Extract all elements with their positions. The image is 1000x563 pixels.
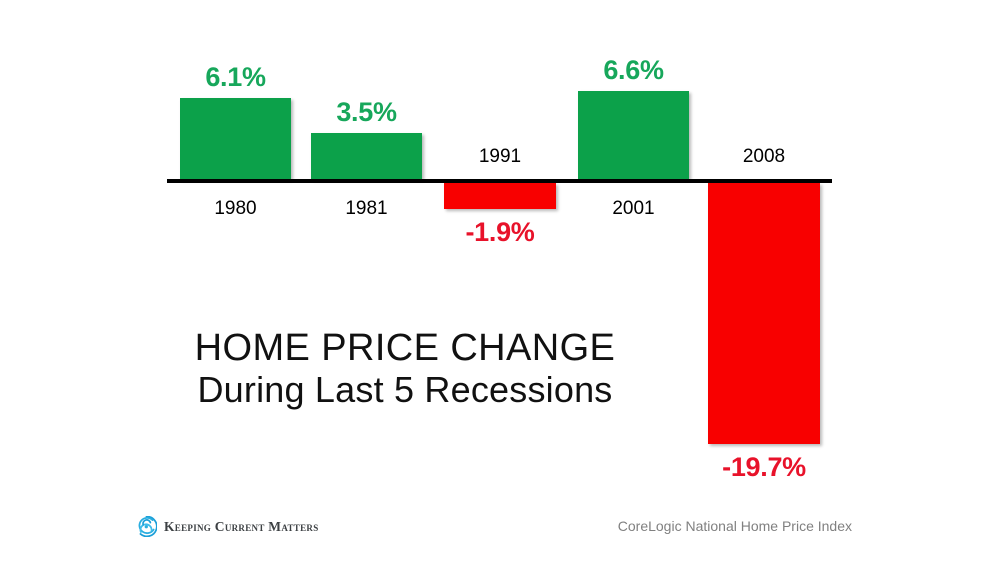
value-label-1981: 3.5% [286, 97, 447, 128]
bar-1981 [311, 133, 422, 179]
source-attribution: CoreLogic National Home Price Index [618, 518, 852, 534]
value-label-1991: -1.9% [419, 217, 581, 248]
category-label-2008: 2008 [683, 146, 845, 168]
brand-name-label: Keeping Current Matters [164, 519, 319, 535]
bar-2001 [578, 91, 689, 179]
category-label-1991: 1991 [419, 146, 581, 168]
value-label-2008: -19.7% [683, 452, 845, 483]
page-title: HOME PRICE CHANGE [150, 328, 660, 368]
bar-2008 [708, 183, 820, 444]
bar-1991 [444, 183, 556, 209]
value-label-2001: 6.6% [553, 55, 714, 86]
bar-1980 [180, 98, 291, 179]
slide-canvas: 6.1%19803.5%1981-1.9%19916.6%2001-19.7%2… [0, 0, 1000, 563]
footer: Keeping Current Matters CoreLogic Nation… [0, 516, 1000, 556]
bar-chart: 6.1%19803.5%1981-1.9%19916.6%2001-19.7%2… [0, 0, 1000, 500]
chart-title-block: HOME PRICE CHANGE During Last 5 Recessio… [150, 328, 660, 410]
brand-logo: Keeping Current Matters [136, 516, 319, 537]
value-label-1980: 6.1% [155, 62, 316, 93]
chart-subtitle: During Last 5 Recessions [150, 370, 660, 410]
category-label-2001: 2001 [553, 198, 714, 220]
spiral-logo-icon [136, 516, 157, 537]
